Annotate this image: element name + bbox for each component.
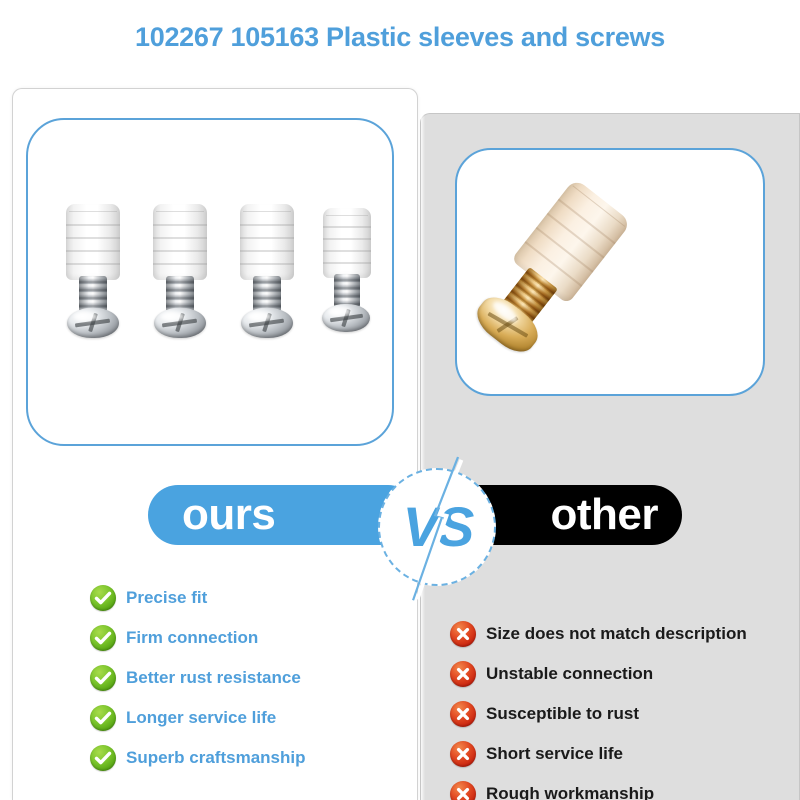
screw-head: [67, 308, 119, 338]
list-item-label: Longer service life: [126, 708, 276, 728]
list-item: Longer service life: [90, 698, 400, 738]
page-title: 102267 105163 Plastic sleeves and screws: [0, 22, 800, 53]
list-item-label: Size does not match description: [486, 624, 747, 644]
check-circle-icon: [90, 625, 116, 651]
ours-product-image-frame: [26, 118, 394, 446]
check-circle-icon: [90, 665, 116, 691]
vs-badge: VS: [378, 468, 496, 586]
cross-circle-icon: [450, 741, 476, 767]
list-item-label: Firm connection: [126, 628, 258, 648]
cross-circle-icon: [450, 621, 476, 647]
list-item-label: Rough workmanship: [486, 784, 654, 800]
ours-label: ours: [182, 493, 275, 537]
list-item: Susceptible to rust: [450, 694, 790, 734]
other-product-image-frame: [455, 148, 765, 396]
screw-shank: [166, 276, 194, 312]
list-item-label: Unstable connection: [486, 664, 653, 684]
list-item: Unstable connection: [450, 654, 790, 694]
list-item-label: Susceptible to rust: [486, 704, 639, 724]
check-circle-icon: [90, 745, 116, 771]
other-product-artwork: [457, 150, 763, 394]
cross-circle-icon: [450, 701, 476, 727]
list-item-label: Better rust resistance: [126, 668, 301, 688]
ours-feature-list: Precise fit Firm connection Better rust …: [90, 578, 400, 778]
other-label: other: [551, 493, 659, 537]
list-item: Precise fit: [90, 578, 400, 618]
screw-shank: [334, 274, 360, 308]
list-item: Short service life: [450, 734, 790, 774]
list-item: Superb craftsmanship: [90, 738, 400, 778]
screw-head: [154, 308, 206, 338]
screw-shank: [79, 276, 107, 312]
ours-bar: ours: [148, 485, 418, 545]
list-item: Rough workmanship: [450, 774, 790, 800]
plastic-sleeve: [153, 204, 207, 280]
versus-banner: ours other VS: [0, 480, 800, 570]
other-feature-list: Size does not match description Unstable…: [450, 614, 790, 800]
list-item-label: Superb craftsmanship: [126, 748, 306, 768]
cross-circle-icon: [450, 781, 476, 800]
list-item-label: Short service life: [486, 744, 623, 764]
list-item: Better rust resistance: [90, 658, 400, 698]
screw-shank: [253, 276, 281, 312]
check-circle-icon: [90, 585, 116, 611]
plastic-sleeve: [323, 208, 371, 278]
list-item-label: Precise fit: [126, 588, 207, 608]
vs-label: VS: [380, 499, 494, 555]
plastic-sleeve: [240, 204, 294, 280]
cross-circle-icon: [450, 661, 476, 687]
list-item: Firm connection: [90, 618, 400, 658]
screw-head: [322, 304, 370, 332]
check-circle-icon: [90, 705, 116, 731]
plastic-sleeve: [66, 204, 120, 280]
ours-product-artwork: [28, 120, 392, 444]
screw-head: [241, 308, 293, 338]
infographic-root: 102267 105163 Plastic sleeves and screws: [0, 0, 800, 800]
list-item: Size does not match description: [450, 614, 790, 654]
